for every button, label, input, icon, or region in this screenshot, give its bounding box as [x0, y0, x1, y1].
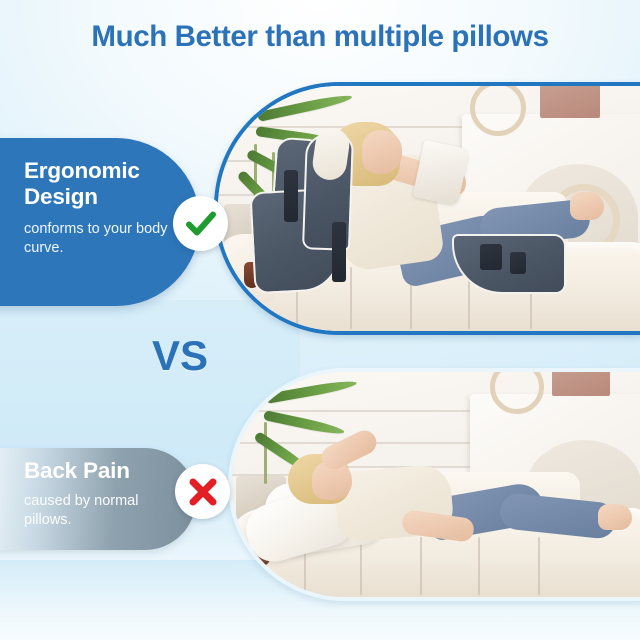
wedge-pillow-strap [284, 170, 298, 222]
wall-art [540, 82, 600, 118]
page-title: Much Better than multiple pillows [0, 20, 640, 54]
sofa-seam [360, 537, 362, 595]
wall-art [552, 368, 610, 396]
plant-stem [264, 422, 267, 484]
check-icon [184, 207, 218, 241]
x-badge [175, 464, 230, 519]
check-badge [173, 196, 228, 251]
callout-back-pain-heading: Back Pain [24, 458, 194, 484]
product-comparison-graphic: Much Better than multiple pillows [0, 0, 640, 640]
callout-ergonomic-design[interactable]: Ergonomic Design conforms to your body c… [0, 138, 200, 306]
person-foot [570, 192, 604, 220]
leg-wedge-strap [510, 252, 526, 274]
callout-ergonomic-heading: Ergonomic Design [24, 158, 184, 210]
sofa-seam [538, 537, 540, 595]
person-face [362, 130, 402, 174]
callout-ergonomic-subtext: conforms to your body curve. [24, 220, 184, 258]
vs-label: VS [152, 332, 208, 380]
wedge-pillow-strap [332, 222, 346, 282]
sofa-seam [478, 537, 480, 595]
sofa-seam [420, 537, 422, 595]
callout-back-pain-subtext: caused by normal pillows. [24, 492, 184, 530]
x-icon [187, 476, 219, 508]
photo-normal-pillows [228, 368, 640, 601]
scene-back-pain [232, 372, 640, 597]
photo-ergonomic-pillow [214, 82, 640, 335]
callout-back-pain[interactable]: Back Pain caused by normal pillows. [0, 448, 196, 550]
decor-ring-small [470, 82, 526, 136]
person-foot [598, 504, 632, 530]
sofa-seam [350, 267, 352, 329]
leg-wedge-strap [480, 244, 502, 270]
scene-ergonomic [218, 86, 640, 331]
